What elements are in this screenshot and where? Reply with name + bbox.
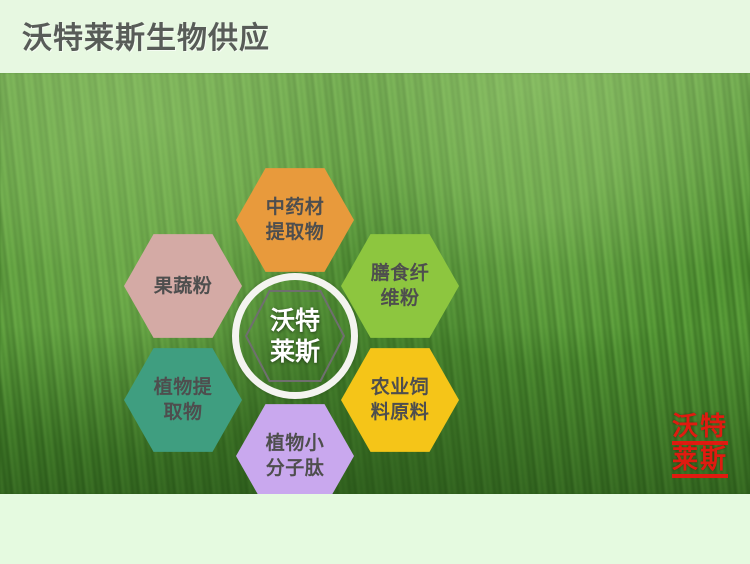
brand-logo-line-2: 莱斯 [672,447,728,478]
hex-node-agri-feed-material[interactable]: 农业饲 料原料 [341,346,459,454]
hex-node-label: 中药材 提取物 [262,195,329,245]
hex-node-label: 农业饲 料原料 [367,375,434,425]
page-title: 沃特莱斯生物供应 [22,22,270,56]
brand-logo: 沃特 莱斯 [672,414,728,480]
footer-band [0,494,750,564]
brand-logo-line-1: 沃特 [672,414,728,445]
hexagon-diagram: 中药材 提取物果蔬粉膳食纤 维粉植物提 取物农业饲 料原料植物小 分子肽沃特 莱… [0,73,750,494]
hex-node-tcm-extract[interactable]: 中药材 提取物 [236,166,354,274]
hex-node-fruit-veg-powder[interactable]: 果蔬粉 [124,232,242,340]
hex-node-dietary-fiber-powder[interactable]: 膳食纤 维粉 [341,232,459,340]
center-brand-label: 沃特 莱斯 [232,273,358,399]
grass-photo-panel: 中药材 提取物果蔬粉膳食纤 维粉植物提 取物农业饲 料原料植物小 分子肽沃特 莱… [0,73,750,494]
hex-node-label: 膳食纤 维粉 [367,261,434,311]
hex-node-plant-peptide[interactable]: 植物小 分子肽 [236,402,354,494]
hex-node-label: 果蔬粉 [150,274,217,299]
hex-node-label: 植物提 取物 [150,375,217,425]
slide-root: 沃特莱斯生物供应 中药材 提取物果蔬粉膳食纤 维粉植物提 取物农业饲 料原料植物… [0,0,750,564]
hex-node-label: 植物小 分子肽 [262,431,329,481]
hex-node-plant-extract[interactable]: 植物提 取物 [124,346,242,454]
hex-center-node[interactable]: 沃特 莱斯 [232,273,358,399]
